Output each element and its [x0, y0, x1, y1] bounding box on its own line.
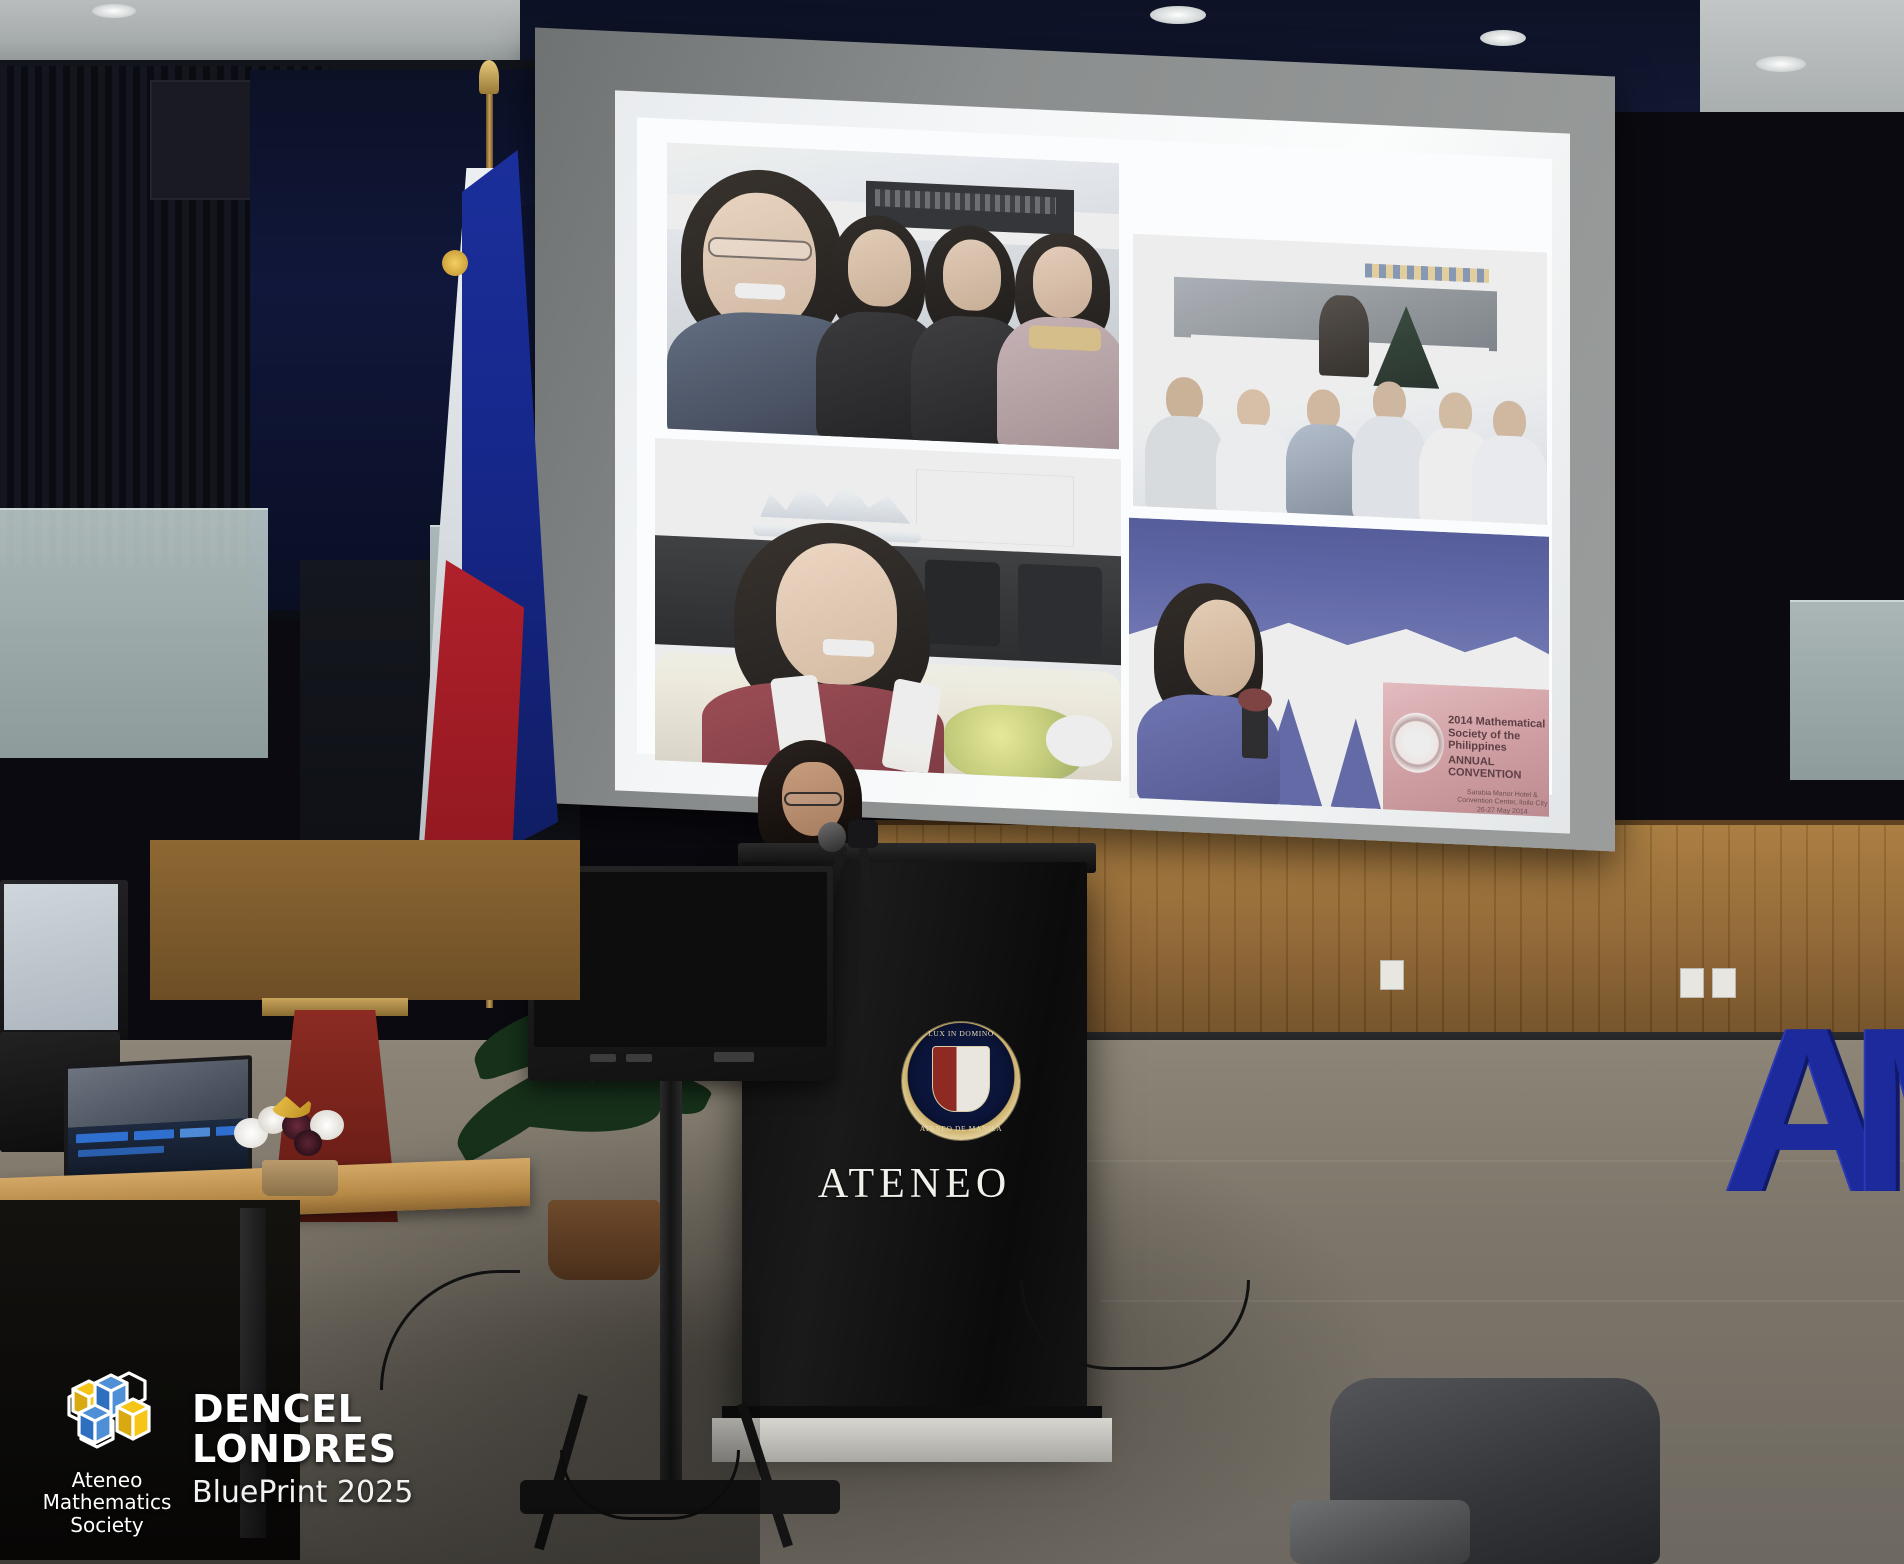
screenshot-stage: 2014 Mathematical Society of the Philipp… [0, 0, 1904, 1564]
ams-line-2: Mathematics [43, 1491, 172, 1513]
ams-logo: Ateneo Mathematics Society [44, 1363, 170, 1536]
speaker-first-name: DENCEL [192, 1389, 413, 1429]
monitor-stand-pole [660, 1081, 682, 1501]
msp-banner-line3: ANNUAL CONVENTION [1448, 754, 1549, 784]
monitor-button-1[interactable] [590, 1054, 616, 1062]
flag-sun-icon [442, 250, 468, 276]
control-monitor [0, 880, 128, 1040]
seal-shield [932, 1046, 990, 1112]
seal-motto-bottom: ATENEO DE MANILA [902, 1124, 1020, 1133]
isometric-cubes-logo-icon [51, 1363, 163, 1463]
ams-line-3: Society [43, 1514, 172, 1536]
left-wood-wall [150, 840, 580, 1000]
podium-base [712, 1418, 1112, 1462]
chair-armrest [1290, 1500, 1470, 1564]
ateneo-seal: LUX IN DOMINO ATENEO DE MANILA [902, 1022, 1020, 1140]
speaker-eyeglasses [784, 792, 842, 806]
event-name: BluePrint 2025 [192, 1475, 413, 1510]
control-monitor-screen [4, 884, 118, 1030]
monitor-button-2[interactable] [626, 1054, 652, 1062]
slide-content: 2014 Mathematical Society of the Philipp… [637, 117, 1552, 795]
projection-screen: 2014 Mathematical Society of the Philipp… [615, 90, 1570, 833]
wall-outlet-2 [1680, 968, 1704, 998]
flower-yellow [272, 1096, 312, 1118]
flower-dark [294, 1130, 322, 1156]
wall-outlet-1 [1380, 960, 1404, 990]
microphone-head-1 [818, 822, 846, 852]
laptop-video-preview [68, 1059, 248, 1128]
msp-banner-line2: Society of the Philippines [1448, 727, 1549, 757]
ceiling-light-4 [92, 4, 136, 18]
seal-motto-top: LUX IN DOMINO [902, 1029, 1020, 1038]
ceiling-light-2 [1480, 30, 1526, 46]
ceiling-light-3 [1756, 56, 1806, 72]
laptop-screen [64, 1055, 252, 1187]
watermark: Ateneo Mathematics Society DENCEL LONDRE… [44, 1363, 413, 1536]
flower-arrangement [232, 1096, 364, 1180]
speaker-last-name: LONDRES [192, 1429, 413, 1469]
podium-wordmark: ATENEO [742, 1160, 1087, 1208]
potted-plant-pot [548, 1200, 660, 1280]
msp-banner: 2014 Mathematical Society of the Philipp… [1381, 680, 1549, 816]
glass-partition-right [1790, 600, 1904, 780]
msp-seal-icon [1390, 711, 1444, 773]
slide-photo-bottom-right: 2014 Mathematical Society of the Philipp… [1129, 518, 1549, 817]
microphone-head-2 [848, 820, 878, 848]
monitor-button-3[interactable] [714, 1052, 754, 1062]
glass-partition-left [0, 508, 268, 758]
ceiling-light-1 [1150, 6, 1206, 24]
slide-photo-top-right [1133, 234, 1547, 525]
floor-letter-m: M [1850, 1016, 1904, 1204]
slide-photo-bottom-left [655, 438, 1121, 781]
flag-finial [479, 60, 499, 94]
ams-logo-text: Ateneo Mathematics Society [43, 1469, 172, 1536]
ams-line-1: Ateneo [43, 1469, 172, 1491]
slide-photo-top-left [667, 143, 1119, 450]
timeline-clip[interactable] [180, 1127, 210, 1138]
watermark-text-block: DENCEL LONDRES BluePrint 2025 [192, 1389, 413, 1511]
